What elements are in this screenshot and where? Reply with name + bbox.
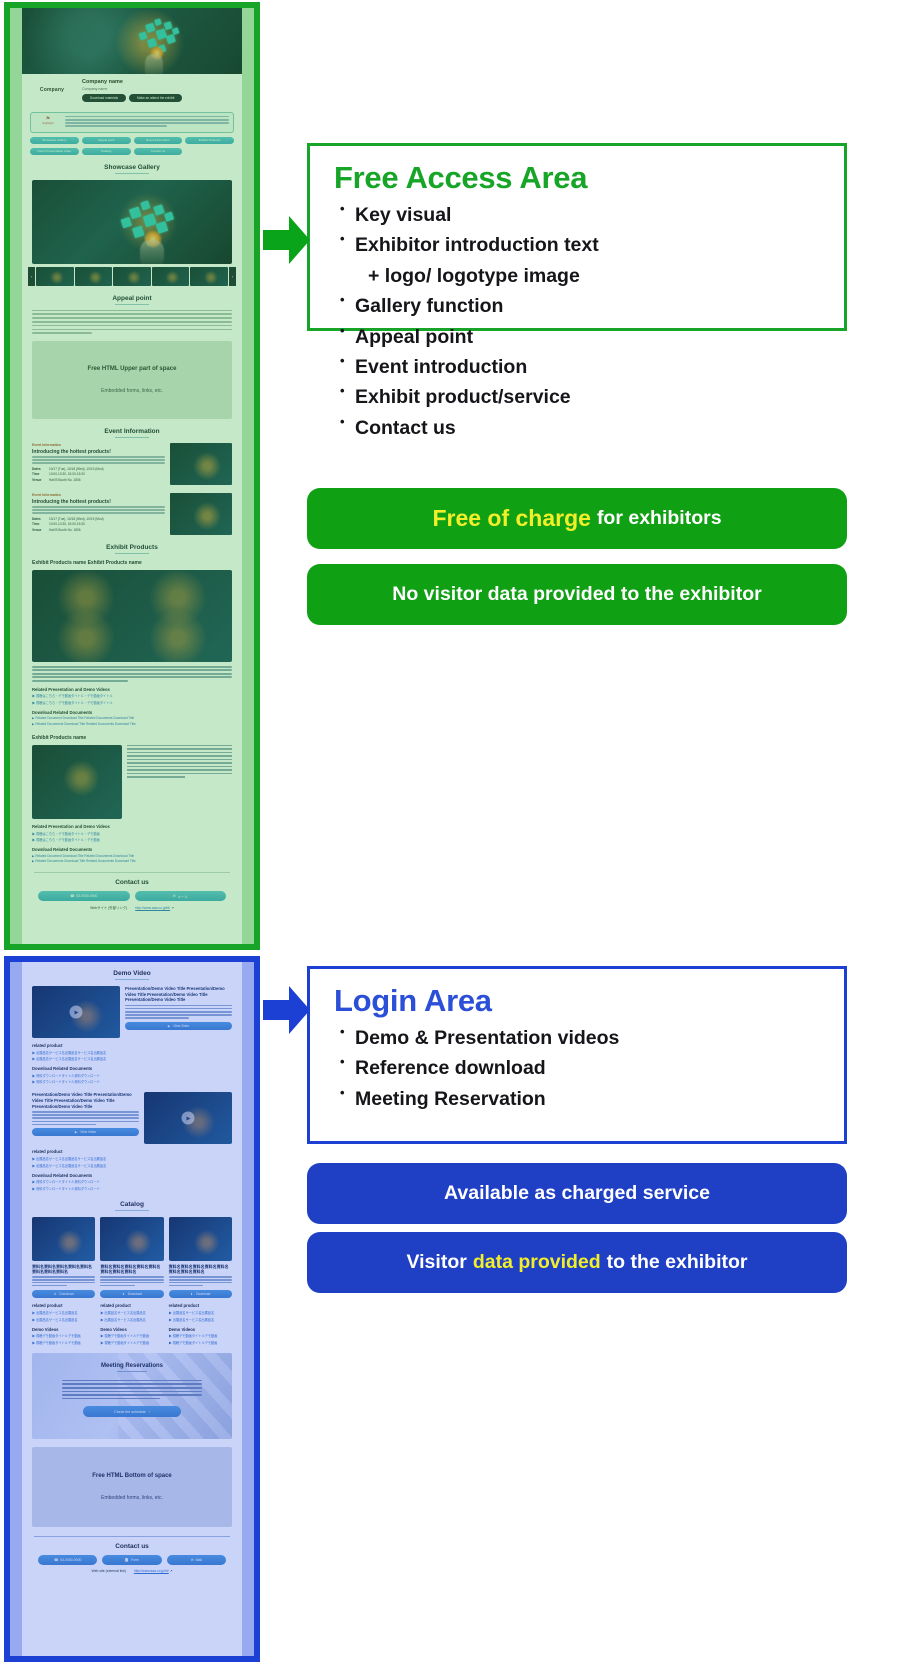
- free-html-sub: Embedded forms, links, etc.: [101, 1495, 163, 1501]
- link-item[interactable]: ▶ 視聴はこちら・デモ動画タイトル・デモ動画タイトル: [32, 693, 232, 698]
- nav-pills-row-2: Demo Presentation video Catalog Contact …: [30, 148, 234, 155]
- visitor-data-strong: data provided: [473, 1251, 601, 1274]
- link-item[interactable]: ▶ 視聴はこちら・デモ動画タイトル・デモ動画: [32, 831, 232, 836]
- catalog-paragraph: [100, 1276, 163, 1286]
- link-item[interactable]: ▶ 出展品名サービス名出展品名サービス名出展品名: [32, 1056, 232, 1061]
- free-access-title: Free Access Area: [310, 146, 844, 200]
- gallery-main-image[interactable]: [32, 180, 232, 264]
- attend-exhibit-button[interactable]: Make an attend the exhibit: [129, 94, 182, 102]
- link-item[interactable]: ▶ Related Documents Download Title Relat…: [32, 859, 232, 863]
- event-thumbnail: [170, 443, 232, 485]
- event-meta: Dates10/17 (Tue), 10/18 (Wed), 10/19 (Mo…: [32, 467, 165, 482]
- company-logo: Company: [30, 87, 74, 93]
- contact-section-title: Contact us: [22, 1543, 242, 1550]
- download-docs-heading: Download Related Documents: [32, 1066, 232, 1071]
- nav-pill-event[interactable]: Event Information: [134, 137, 183, 144]
- catalog-download-button[interactable]: ⬇ Download: [100, 1290, 163, 1298]
- product-image: [32, 570, 232, 662]
- login-area-mockup: Demo Video Presentation/Demo Video Title…: [10, 962, 254, 1656]
- section-rule: [115, 553, 149, 554]
- event-meta-value: 13:00-13:30, 15:00-15:30: [49, 472, 85, 476]
- website-row: Webサイト (外部リンク) http://www.aaa.co.jp/bl/ …: [22, 905, 242, 910]
- form-icon: 📄: [125, 1558, 129, 1562]
- website-link[interactable]: http://www.aaa.co.jp/bl/: [134, 1569, 169, 1573]
- download-icon: ⬇: [122, 1292, 125, 1296]
- gallery-thumb[interactable]: [152, 267, 190, 286]
- event-heading: Introducing the hottest products!: [32, 449, 165, 455]
- list-item: + logo/ logotype image: [340, 261, 844, 291]
- charged-service-text: Available as charged service: [444, 1182, 710, 1205]
- nav-pills-row-1: Showcase Gallery Appeal point Event Info…: [30, 137, 234, 144]
- video-icon: ▶: [75, 1130, 77, 1134]
- free-html-title: Free HTML Bottom of space: [92, 1473, 172, 1479]
- event-meta-value: 10/17 (Tue), 10/18 (Wed), 10/19 (Mod): [49, 517, 104, 521]
- link-item[interactable]: ▶ 出展品名サービス名出展品名: [32, 1310, 95, 1315]
- event-card[interactable]: Event Information Introducing the hottes…: [32, 443, 232, 485]
- demo-videos-heading: Demo Videos: [100, 1327, 153, 1332]
- contact-buttons: ☎ 03-0000-0000 📄 Form ✉ Mail: [38, 1555, 226, 1565]
- meeting-title: Meeting Reservations: [32, 1363, 232, 1369]
- divider: [34, 1536, 230, 1537]
- free-html-upper-block: Free HTML Upper part of space Embedded f…: [32, 341, 232, 419]
- gallery-thumb[interactable]: [36, 267, 74, 286]
- related-product-heading: related product: [32, 1149, 232, 1154]
- event-paragraph: [32, 456, 165, 464]
- appeal-body-text: [32, 310, 232, 334]
- link-item[interactable]: ▶ 視聴デモ動画タイトルデモ動画: [100, 1340, 163, 1345]
- link-item[interactable]: ▶ 資料ダウンロードタイトル資料ダウンロード: [32, 1073, 232, 1078]
- event-meta-value: 10/17 (Tue), 10/18 (Wed), 10/19 (Mod): [49, 467, 104, 471]
- download-docs-heading: Download Related Documents: [32, 710, 232, 715]
- demo-videos-links: ▶ 視聴デモ動画タイトルデモ動画 ▶ 視聴デモ動画タイトルデモ動画: [100, 1333, 163, 1345]
- no-visitor-data-text: No visitor data provided to the exhibito…: [392, 583, 761, 606]
- gallery-thumb[interactable]: [113, 267, 151, 286]
- contact-mail-button[interactable]: ✉ Mail: [167, 1555, 226, 1565]
- link-item[interactable]: ▶ 出展品名サービス名出展品名: [32, 1317, 95, 1322]
- product-heading: Exhibit Products name Exhibit Products n…: [32, 560, 232, 566]
- external-link-icon: ↗: [170, 1569, 173, 1573]
- divider: [34, 872, 230, 873]
- event-thumbnail: [170, 493, 232, 535]
- download-docs-links: ▶ 資料ダウンロードタイトル資料ダウンロード ▶ 資料ダウンロードタイトル資料ダ…: [32, 1179, 232, 1191]
- link-item[interactable]: ▶ 出展品名サービス名出展品名: [100, 1317, 163, 1322]
- related-videos-links: ▶ 視聴はこちら・デモ動画タイトル・デモ動画 ▶ 視聴はこちら・デモ動画タイトル…: [32, 831, 232, 843]
- list-item: Meeting Reservation: [340, 1084, 844, 1114]
- section-rule: [115, 979, 149, 980]
- link-item[interactable]: ▶ Related Documents Download Title Relat…: [32, 722, 232, 726]
- free-html-title: Free HTML Upper part of space: [88, 366, 177, 372]
- contact-buttons: ☎ 03-0000-0000 ✉ メール: [38, 891, 226, 901]
- company-name: Company name: [82, 79, 182, 86]
- link-item[interactable]: ▶ 出展品名サービス名出展品名サービス名出展品名: [32, 1050, 232, 1055]
- product-heading: Exhibit Products name: [32, 735, 232, 741]
- highlight-text: [65, 116, 229, 129]
- website-label: Webサイト (外部リンク): [90, 906, 127, 910]
- list-item: Demo & Presentation videos: [340, 1023, 844, 1053]
- arrow-to-free-access-icon: [263, 215, 311, 270]
- website-link[interactable]: http://www.aaa.co.jp/bl/: [135, 906, 170, 910]
- free-access-callout: Free Access Area Key visual Exhibitor in…: [307, 143, 847, 331]
- nav-pill-products[interactable]: Exhibit Products: [185, 137, 234, 144]
- list-item: Event introduction: [340, 352, 844, 382]
- event-card[interactable]: Event Information Introducing the hottes…: [32, 493, 232, 535]
- demo-videos-heading: Demo Videos: [169, 1327, 222, 1332]
- event-tag: Event Information: [32, 493, 165, 497]
- demo-video-section-title: Demo Video: [22, 970, 242, 977]
- catalog-section-title: Catalog: [22, 1201, 242, 1208]
- nav-pill-contact[interactable]: Contact us: [134, 148, 183, 155]
- link-item[interactable]: ▶ 出展品名サービス名出展品名サービス名出展品名: [32, 1156, 232, 1161]
- event-meta-value: Hall B Booth No. 1806: [49, 478, 81, 482]
- list-item: Exhibitor introduction text: [340, 230, 844, 260]
- link-item[interactable]: ▶ 視聴はこちら・デモ動画タイトル・デモ動画: [32, 837, 232, 842]
- download-docs-links: ▶ Related Document Download Title Relate…: [32, 854, 232, 864]
- related-product-links: ▶ 出展品名サービス名出展品名サービス名出展品名 ▶ 出展品名サービス名出展品名…: [32, 1156, 232, 1168]
- meeting-description: [62, 1380, 202, 1400]
- related-videos-links: ▶ 視聴はこちら・デモ動画タイトル・デモ動画タイトル ▶ 視聴はこちら・デモ動画…: [32, 693, 232, 705]
- related-product-links: ▶ 出展品名サービス名出展品名 ▶ 出展品名サービス名出展品名: [169, 1310, 232, 1322]
- event-meta-value: 13:00-13:30, 15:00-15:30: [49, 522, 85, 526]
- list-item: Reference download: [340, 1053, 844, 1083]
- video-icon: ▶: [168, 1024, 170, 1028]
- arrow-to-login-area-icon: [263, 985, 311, 1040]
- event-meta-key: Dates: [32, 467, 46, 471]
- event-meta-key: Time: [32, 522, 46, 526]
- no-visitor-data-banner: No visitor data provided to the exhibito…: [307, 564, 847, 625]
- contact-section-title: Contact us: [22, 879, 242, 886]
- website-label: Web site (external link): [92, 1569, 126, 1573]
- demo-videos-links: ▶ 視聴デモ動画タイトルデモ動画 ▶ 視聴デモ動画タイトルデモ動画: [169, 1333, 232, 1345]
- free-access-list: Key visual Exhibitor introduction text +…: [310, 200, 844, 443]
- event-meta-value: Hall B Booth No. 1806: [49, 528, 81, 532]
- catalog-grid: 資料名資料名資料名資料名資料名資料名資料名資料名 ⬇ Download rela…: [32, 1217, 232, 1345]
- highlight-label: ⚑ Highlight: [35, 116, 61, 129]
- section-rule: [115, 304, 149, 305]
- related-product-heading: related product: [32, 1043, 232, 1048]
- visitor-data-post: to the exhibitor: [607, 1251, 748, 1274]
- free-html-bottom-block: Free HTML Bottom of space Embedded forms…: [32, 1447, 232, 1527]
- download-icon: ⬇: [190, 1292, 193, 1296]
- chevron-right-icon: ›: [149, 1410, 150, 1414]
- download-docs-links: ▶ 資料ダウンロードタイトル資料ダウンロード ▶ 資料ダウンロードタイトル資料ダ…: [32, 1073, 232, 1085]
- gallery-prev-icon[interactable]: ‹: [28, 267, 35, 286]
- catalog-thumbnail[interactable]: [100, 1217, 163, 1261]
- event-meta-key: Venue: [32, 478, 46, 482]
- video-paragraph: [32, 1111, 139, 1125]
- list-item: Key visual: [340, 200, 844, 230]
- products-section-title: Exhibit Products: [22, 544, 242, 551]
- charged-service-banner: Available as charged service: [307, 1163, 847, 1224]
- link-item[interactable]: ▶ 視聴デモ動画タイトルデモ動画: [32, 1333, 95, 1338]
- gallery-section-title: Showcase Gallery: [22, 164, 242, 171]
- video-thumbnail[interactable]: [32, 986, 120, 1038]
- video-thumbnail[interactable]: [144, 1092, 232, 1144]
- link-item[interactable]: ▶ 出展品名サービス名出展品名: [169, 1310, 232, 1315]
- gallery-thumbnails: ‹ ›: [28, 267, 236, 286]
- catalog-paragraph: [169, 1276, 232, 1286]
- login-area-list: Demo & Presentation videos Reference dow…: [310, 1023, 844, 1114]
- link-item[interactable]: ▶ 視聴デモ動画タイトルデモ動画: [100, 1333, 163, 1338]
- free-of-charge-banner: Free of charge for exhibitors: [307, 488, 847, 549]
- event-paragraph: [32, 506, 165, 514]
- video-card: Presentation/Demo Video Title Presentati…: [32, 1092, 232, 1144]
- view-video-button[interactable]: ▶ View Video: [125, 1022, 232, 1030]
- external-link-icon: ↗: [171, 906, 174, 910]
- related-videos-heading: Related Presentation and Demo Videos: [32, 687, 232, 692]
- nav-pill-gallery[interactable]: Showcase Gallery: [30, 137, 79, 144]
- play-icon[interactable]: [182, 1112, 195, 1125]
- event-meta-key: Time: [32, 472, 46, 476]
- company-sub: Company name: [82, 87, 182, 91]
- catalog-download-button[interactable]: ⬇ Download: [169, 1290, 232, 1298]
- mockup-page-free: Company Company name Company name Downlo…: [22, 8, 242, 944]
- related-product-links: ▶ 出展品名サービス名出展品名 ▶ 出展品名サービス名出展品名: [32, 1310, 95, 1322]
- download-docs-heading: Download Related Documents: [32, 1173, 232, 1178]
- contact-form-button[interactable]: 📄 Form: [102, 1555, 161, 1565]
- meeting-reservations-block: Meeting Reservations Check the schedule …: [32, 1353, 232, 1439]
- phone-icon: ☎: [70, 894, 74, 898]
- catalog-thumbnail[interactable]: [169, 1217, 232, 1261]
- catalog-card: 資料名資料名資料名資料名資料名資料名資料名資料名 ⬇ Download rela…: [32, 1217, 95, 1345]
- key-visual-hero: [22, 8, 242, 74]
- contact-mail-button[interactable]: ✉ メール: [135, 891, 227, 901]
- section-rule: [117, 1371, 147, 1372]
- free-access-mockup-frame: Company Company name Company name Downlo…: [4, 2, 260, 950]
- free-of-charge-strong: Free of charge: [432, 505, 591, 532]
- visitor-data-banner: Visitor data provided to the exhibitor: [307, 1232, 847, 1293]
- highlight-box: ⚑ Highlight: [30, 112, 234, 133]
- login-area-mockup-frame: Demo Video Presentation/Demo Video Title…: [4, 956, 260, 1662]
- demo-videos-links: ▶ 視聴デモ動画タイトルデモ動画 ▶ 視聴デモ動画タイトルデモ動画: [32, 1333, 95, 1345]
- website-row: Web site (external link) http://www.aaa.…: [22, 1569, 242, 1573]
- related-product-heading: related product: [169, 1303, 222, 1308]
- nav-pill-appeal[interactable]: Appeal point: [82, 137, 131, 144]
- mail-icon: ✉: [173, 894, 176, 898]
- event-meta-key: Dates: [32, 517, 46, 521]
- video-heading: Presentation/Demo Video Title Presentati…: [32, 1092, 139, 1109]
- contact-phone-button[interactable]: ☎ 03-0000-0000: [38, 891, 130, 901]
- link-item[interactable]: ▶ Related Document Download Title Relate…: [32, 716, 232, 720]
- product-description: [32, 666, 232, 682]
- list-item: Appeal point: [340, 322, 844, 352]
- link-item[interactable]: ▶ 出展品名サービス名出展品名: [100, 1310, 163, 1315]
- free-html-sub: Embedded forms, links, etc.: [101, 388, 163, 394]
- event-section-title: Event Information: [22, 428, 242, 435]
- catalog-title-text: 資料名資料名資料名資料名資料名資料名資料名資料名: [169, 1264, 232, 1275]
- visitor-data-pre: Visitor: [406, 1251, 466, 1274]
- link-item[interactable]: ▶ 資料ダウンロードタイトル資料ダウンロード: [32, 1179, 232, 1184]
- event-meta: Dates10/17 (Tue), 10/18 (Wed), 10/19 (Mo…: [32, 517, 165, 532]
- gallery-thumb[interactable]: [190, 267, 228, 286]
- play-icon[interactable]: [70, 1006, 83, 1019]
- gallery-thumb[interactable]: [75, 267, 113, 286]
- event-tag: Event Information: [32, 443, 165, 447]
- mockup-page-login: Demo Video Presentation/Demo Video Title…: [22, 962, 242, 1656]
- link-item[interactable]: ▶ 出展品名サービス名出展品名: [169, 1317, 232, 1322]
- video-card: Presentation/Demo Video Title Presentati…: [32, 986, 232, 1038]
- link-item[interactable]: ▶ 視聴デモ動画タイトルデモ動画: [32, 1340, 95, 1345]
- list-item: Contact us: [340, 413, 844, 443]
- list-item: Exhibit product/service: [340, 382, 844, 412]
- link-item[interactable]: ▶ 視聴はこちら・デモ動画タイトル・デモ動画タイトル: [32, 700, 232, 705]
- hand-graphic: [145, 54, 163, 74]
- catalog-thumbnail[interactable]: [32, 1217, 95, 1261]
- link-item[interactable]: ▶ 視聴デモ動画タイトルデモ動画: [169, 1333, 232, 1338]
- related-product-heading: related product: [32, 1303, 85, 1308]
- catalog-card: 資料名資料名資料名資料名資料名資料名資料名資料名 ⬇ Download rela…: [169, 1217, 232, 1345]
- section-rule: [115, 1210, 149, 1211]
- nav-pill-catalog[interactable]: Catalog: [82, 148, 131, 155]
- link-item[interactable]: ▶ Related Document Download Title Relate…: [32, 854, 232, 858]
- free-of-charge-rest: for exhibitors: [597, 507, 722, 530]
- related-videos-heading: Related Presentation and Demo Videos: [32, 824, 232, 829]
- download-materials-button[interactable]: Download materials: [82, 94, 126, 102]
- related-product-links: ▶ 出展品名サービス名出展品名サービス名出展品名 ▶ 出展品名サービス名出展品名…: [32, 1050, 232, 1062]
- catalog-paragraph: [32, 1276, 95, 1286]
- link-item[interactable]: ▶ 出展品名サービス名出展品名サービス名出展品名: [32, 1163, 232, 1168]
- nav-pill-demo-video[interactable]: Demo Presentation video: [30, 148, 79, 155]
- check-schedule-button[interactable]: Check the schedule ›: [83, 1406, 181, 1417]
- section-rule: [115, 437, 149, 438]
- video-heading: Presentation/Demo Video Title Presentati…: [125, 986, 232, 1003]
- demo-videos-heading: Demo Videos: [32, 1327, 85, 1332]
- catalog-title-text: 資料名資料名資料名資料名資料名資料名資料名資料名: [100, 1264, 163, 1275]
- mail-icon: ✉: [191, 1558, 194, 1562]
- link-item[interactable]: ▶ 資料ダウンロードタイトル資料ダウンロード: [32, 1079, 232, 1084]
- product-image: [32, 745, 122, 819]
- video-paragraph: [125, 1005, 232, 1019]
- catalog-download-button[interactable]: ⬇ Download: [32, 1290, 95, 1298]
- event-heading: Introducing the hottest products!: [32, 499, 165, 505]
- download-icon: ⬇: [54, 1292, 57, 1296]
- event-meta-key: Venue: [32, 528, 46, 532]
- catalog-title-text: 資料名資料名資料名資料名資料名資料名資料名資料名: [32, 1264, 95, 1275]
- gallery-next-icon[interactable]: ›: [229, 267, 236, 286]
- view-video-button[interactable]: ▶ View Video: [32, 1128, 139, 1136]
- link-item[interactable]: ▶ 視聴デモ動画タイトルデモ動画: [169, 1340, 232, 1345]
- free-access-mockup: Company Company name Company name Downlo…: [10, 8, 254, 944]
- list-item: Gallery function: [340, 291, 844, 321]
- phone-icon: ☎: [54, 1558, 58, 1562]
- product-description: [127, 745, 232, 819]
- download-docs-links: ▶ Related Document Download Title Relate…: [32, 716, 232, 726]
- appeal-section-title: Appeal point: [22, 295, 242, 302]
- login-area-callout: Login Area Demo & Presentation videos Re…: [307, 966, 847, 1144]
- contact-phone-button[interactable]: ☎ 03-0000-0000: [38, 1555, 97, 1565]
- related-product-links: ▶ 出展品名サービス名出展品名 ▶ 出展品名サービス名出展品名: [100, 1310, 163, 1322]
- download-docs-heading: Download Related Documents: [32, 847, 232, 852]
- link-item[interactable]: ▶ 資料ダウンロードタイトル資料ダウンロード: [32, 1186, 232, 1191]
- login-area-title: Login Area: [310, 969, 844, 1023]
- related-product-heading: related product: [100, 1303, 153, 1308]
- catalog-card: 資料名資料名資料名資料名資料名資料名資料名資料名 ⬇ Download rela…: [100, 1217, 163, 1345]
- section-rule: [115, 173, 149, 174]
